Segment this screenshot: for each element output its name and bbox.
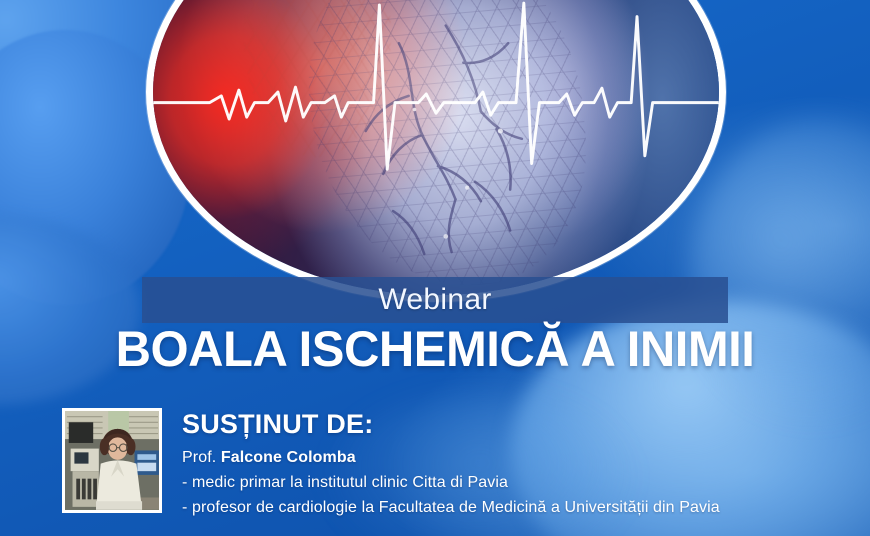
ecg-pulse-line-icon	[153, 0, 719, 295]
speaker-portrait-art	[65, 411, 159, 510]
speaker-credential-2: - profesor de cardiologie la Facultatea …	[182, 495, 852, 520]
speaker-name-line: Prof. Falcone Colomba	[182, 445, 852, 470]
speaker-portrait	[62, 408, 162, 513]
speaker-name: Falcone Colomba	[221, 449, 356, 466]
webinar-poster: Webinar BOALA ISCHEMICĂ A INIMII	[0, 0, 870, 536]
webinar-banner: Webinar	[142, 277, 728, 323]
speaker-name-prefix: Prof.	[182, 449, 221, 466]
speaker-credential-1: - medic primar la institutul clinic Citt…	[182, 470, 852, 495]
speaker-block: SUSȚINUT DE: Prof. Falcone Colomba - med…	[62, 408, 852, 528]
speaker-details: SUSȚINUT DE: Prof. Falcone Colomba - med…	[182, 408, 852, 520]
page-title: BOALA ISCHEMICĂ A INIMII	[9, 323, 862, 376]
webinar-label: Webinar	[378, 283, 491, 317]
speaker-heading: SUSȚINUT DE:	[182, 410, 852, 440]
heart-ecg-illustration	[146, 0, 726, 302]
